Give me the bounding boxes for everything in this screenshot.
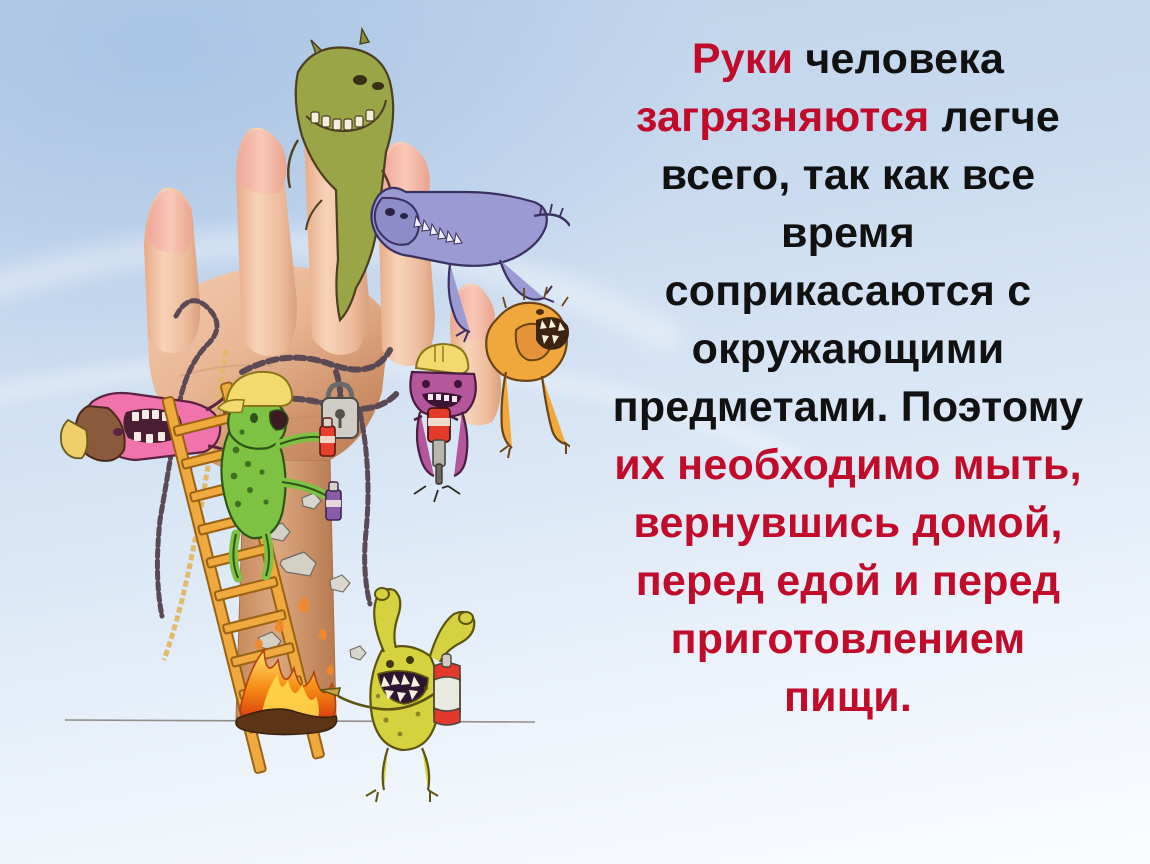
text-line: пищи.	[548, 668, 1148, 726]
text-line: их необходимо мыть,	[548, 436, 1148, 494]
text-line: время	[548, 204, 1148, 262]
text-segment: человека	[793, 35, 1004, 83]
text-line: соприкасаются с	[548, 262, 1148, 320]
text-line: перед едой и перед	[548, 552, 1148, 610]
germ-magenta-jackhammer	[410, 344, 475, 502]
fire-extinguisher	[434, 654, 460, 725]
text-line: загрязняются легче	[548, 88, 1148, 146]
text-segment: легче	[929, 93, 1060, 141]
slide-body-text: Руки человека загрязняются легче всего, …	[548, 30, 1148, 830]
text-line: всего, так как все	[548, 146, 1148, 204]
hand-germs-illustration	[30, 20, 570, 820]
text-line: окружающими	[548, 320, 1148, 378]
text-line: Руки человека	[548, 30, 1148, 88]
text-segment: загрязняются	[636, 93, 929, 141]
text-segment: Руки	[692, 35, 793, 83]
text-line: приготовлением	[548, 610, 1148, 668]
text-line: предметами. Поэтому	[548, 378, 1148, 436]
germ-yellow-extinguisher	[320, 588, 474, 802]
text-line: вернувшись домой,	[548, 494, 1148, 552]
slide: Руки человека загрязняются легче всего, …	[0, 0, 1150, 864]
